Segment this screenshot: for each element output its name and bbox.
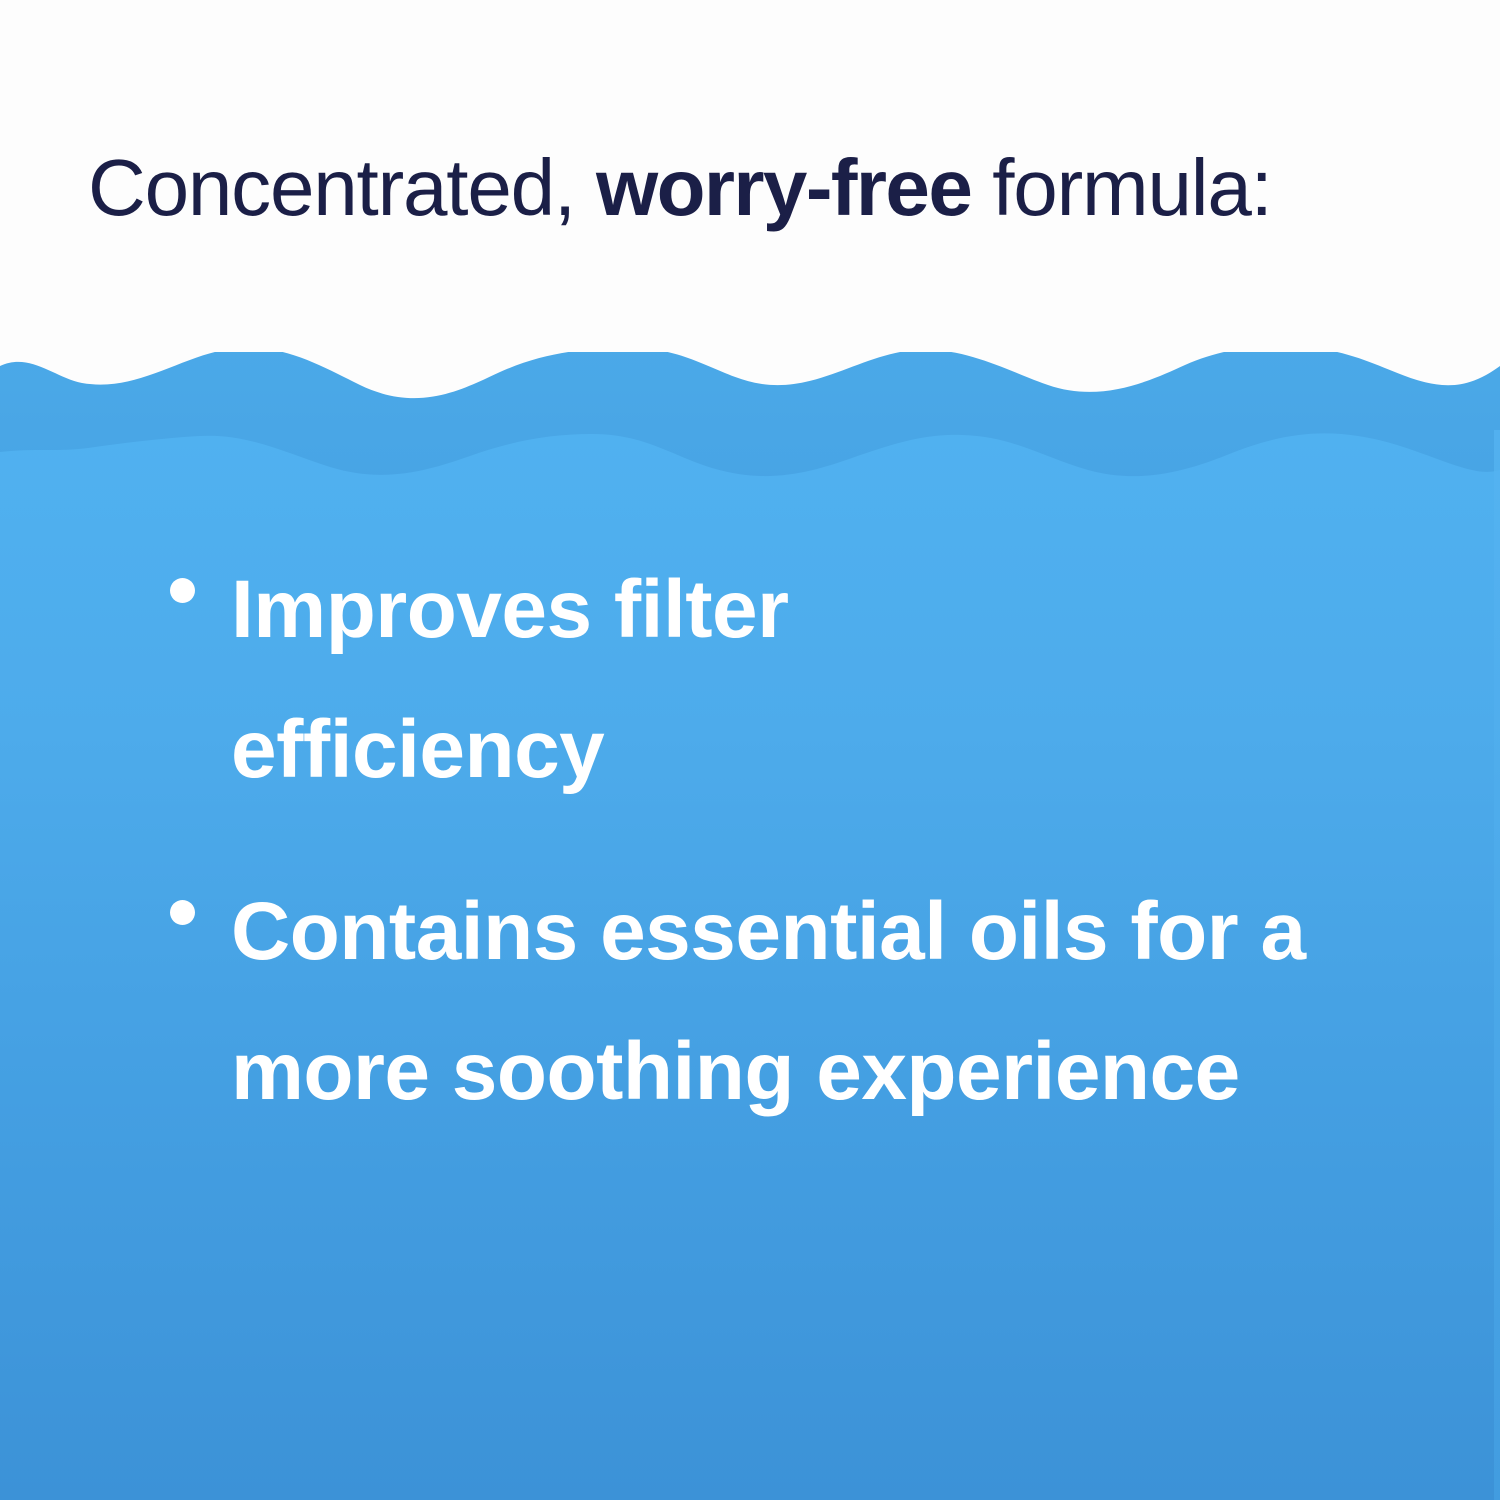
list-item-label: Contains essential oils for a more sooth… bbox=[231, 862, 1341, 1142]
bullet-dot-icon bbox=[170, 900, 195, 925]
headline-part-one: Concentrated, bbox=[88, 143, 596, 232]
bullet-dot-icon bbox=[170, 578, 195, 603]
header-band: Concentrated, worry-free formula: bbox=[0, 0, 1500, 352]
headline-emphasis: worry-free bbox=[596, 143, 971, 232]
headline-part-two: formula: bbox=[971, 143, 1271, 232]
right-edge-highlight bbox=[1494, 430, 1500, 1500]
page-title: Concentrated, worry-free formula: bbox=[88, 146, 1272, 230]
list-item: Contains essential oils for a more sooth… bbox=[170, 862, 1341, 1142]
promo-panel: Concentrated, worry-free formula: Improv… bbox=[0, 0, 1500, 1500]
list-item-label: Improves filter efficiency bbox=[231, 540, 931, 820]
list-item: Improves filter efficiency bbox=[170, 540, 931, 820]
